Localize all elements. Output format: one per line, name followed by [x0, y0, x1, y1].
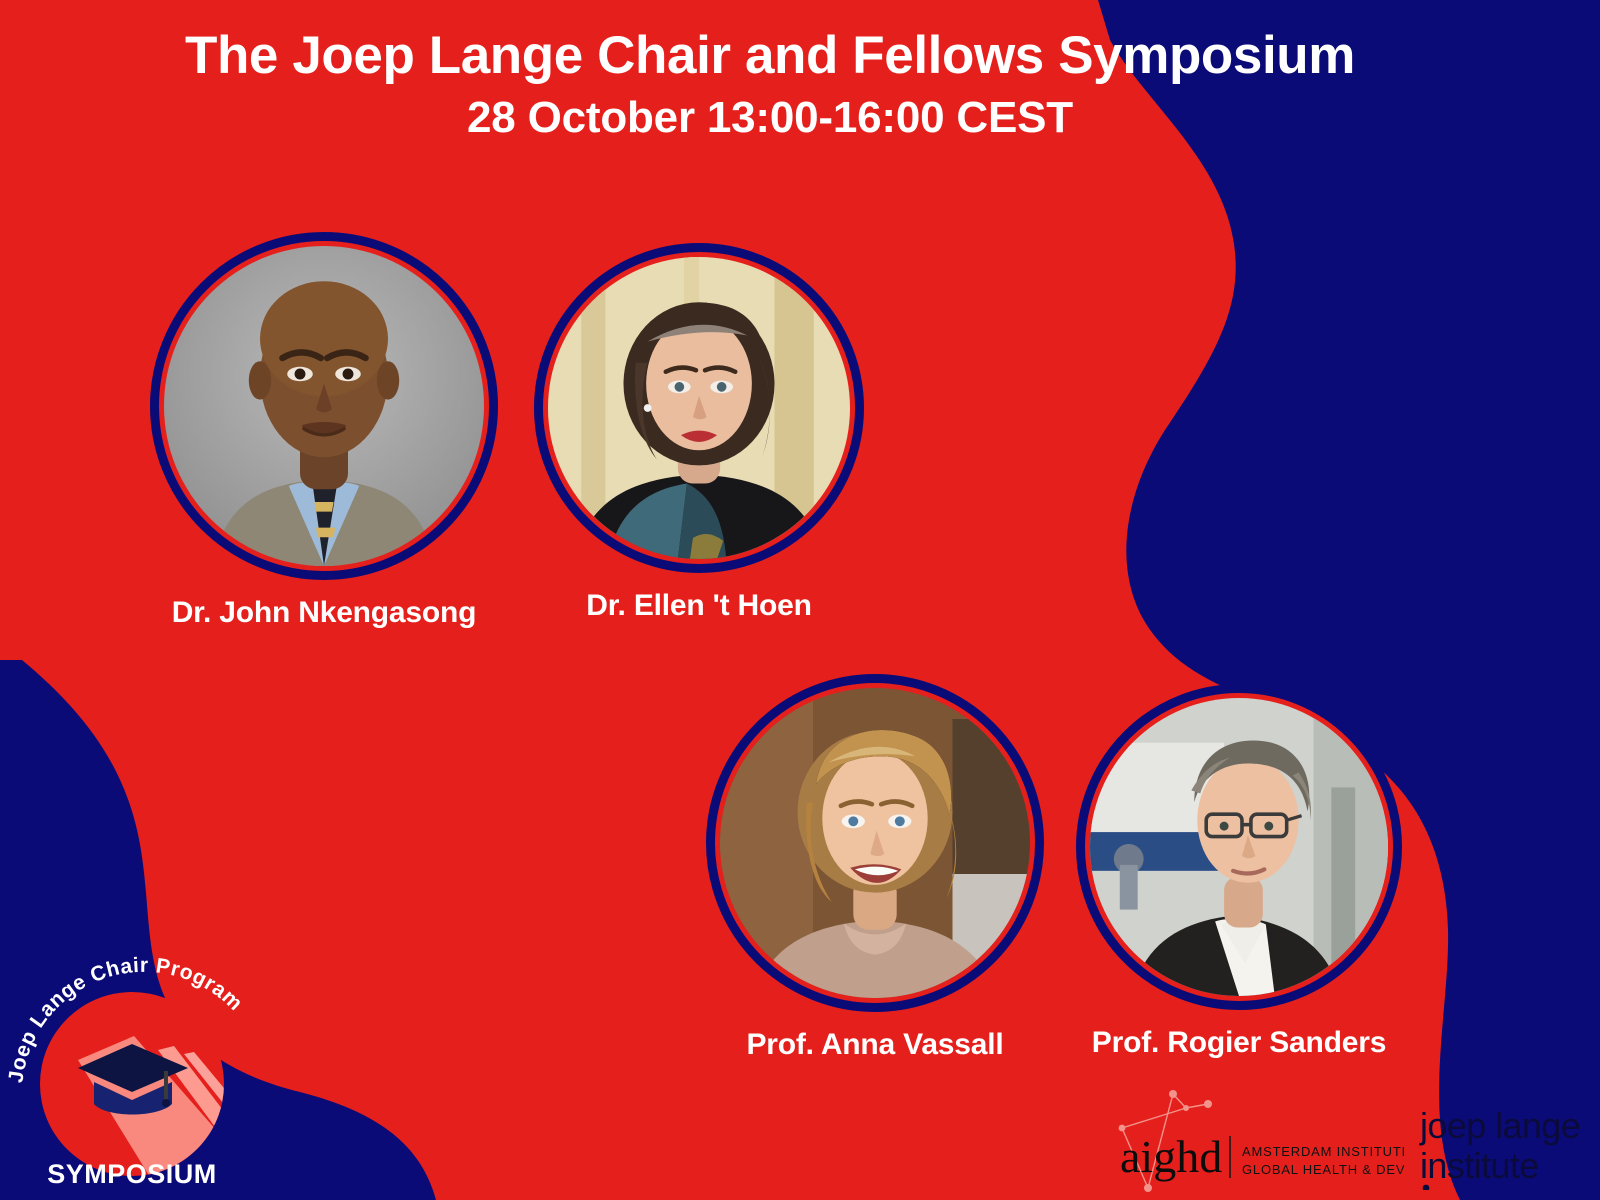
- portrait-rogier-sanders: [1090, 698, 1388, 996]
- aighd-tagline-line1: AMSTERDAM INSTITUTE FOR: [1242, 1144, 1404, 1159]
- aighd-logo[interactable]: aighd AMSTERDAM INSTITUTE FOR GLOBAL HEA…: [1108, 1086, 1404, 1194]
- page-title: The Joep Lange Chair and Fellows Symposi…: [0, 28, 1540, 84]
- title-block: The Joep Lange Chair and Fellows Symposi…: [0, 28, 1540, 145]
- page-subtitle: 28 October 13:00-16:00 CEST: [0, 92, 1540, 145]
- portrait-ring-2: [534, 243, 864, 573]
- speaker-name-2: Dr. Ellen 't Hoen: [534, 589, 864, 623]
- joep-lange-institute-logo[interactable]: joep lange institute: [1418, 1098, 1588, 1190]
- speaker-card-4[interactable]: Prof. Rogier Sanders: [1076, 684, 1402, 1060]
- portrait-ring-3: [706, 674, 1044, 1012]
- poster-canvas: The Joep Lange Chair and Fellows Symposi…: [0, 0, 1600, 1200]
- aighd-wordmark: aighd: [1120, 1131, 1222, 1182]
- institute-line1: joep lange: [1419, 1105, 1580, 1146]
- speaker-name-3: Prof. Anna Vassall: [706, 1028, 1044, 1062]
- speaker-card-2[interactable]: Dr. Ellen 't Hoen: [534, 243, 864, 623]
- speaker-name-4: Prof. Rogier Sanders: [1076, 1026, 1402, 1060]
- portrait-ring-1: [150, 232, 498, 580]
- portrait-ellen-t-hoen: [548, 257, 850, 559]
- joep-lange-chair-program-logo[interactable]: Joep Lange Chair Program SYMPOSIUM: [8, 928, 280, 1200]
- institute-line2: institute: [1420, 1145, 1539, 1186]
- portrait-anna-vassall: [720, 688, 1030, 998]
- speaker-card-3[interactable]: Prof. Anna Vassall: [706, 674, 1044, 1062]
- aighd-tagline-line2: GLOBAL HEALTH & DEVELOPMENT.: [1242, 1162, 1404, 1177]
- portrait-john-nkengasong: [164, 246, 484, 566]
- speaker-card-1[interactable]: Dr. John Nkengasong: [150, 232, 498, 630]
- logo-symposium-label: SYMPOSIUM: [47, 1159, 217, 1189]
- portrait-ring-4: [1076, 684, 1402, 1010]
- speaker-name-1: Dr. John Nkengasong: [150, 596, 498, 630]
